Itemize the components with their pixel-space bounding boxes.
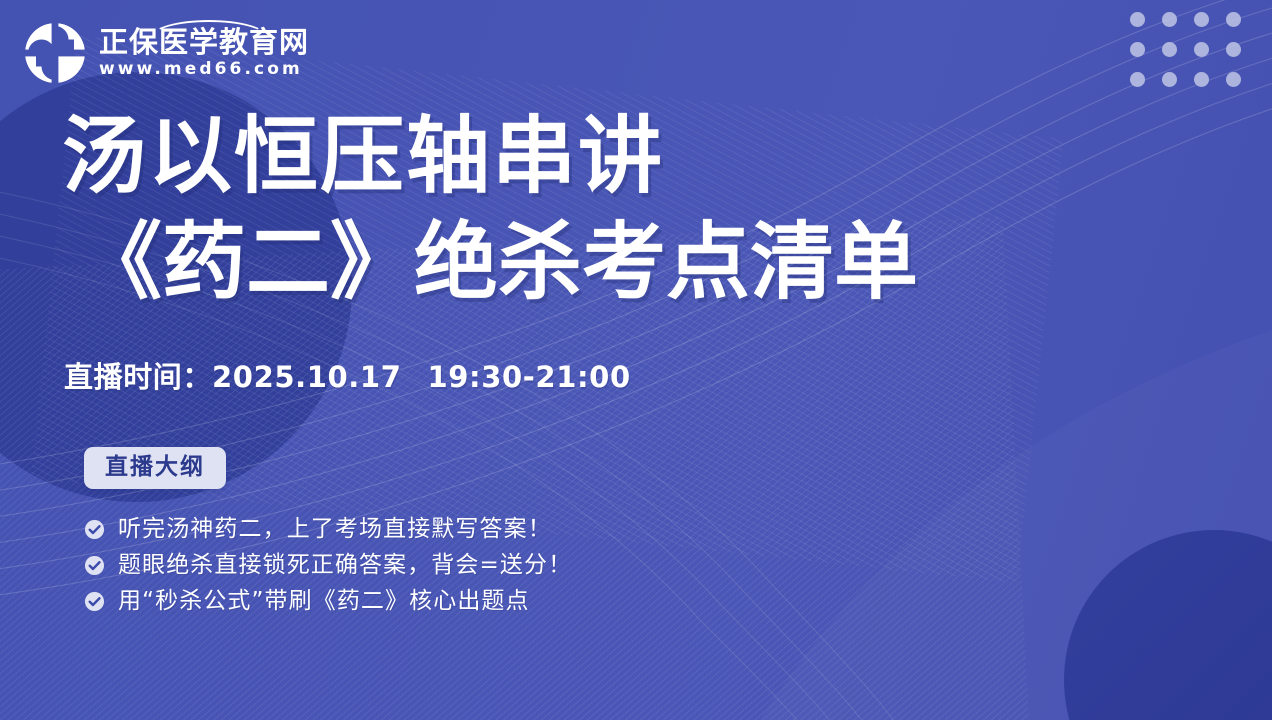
list-item: 听完汤神药二，上了考场直接默写答案！	[84, 518, 572, 541]
list-item-label: 听完汤神药二，上了考场直接默写答案！	[118, 518, 552, 541]
list-item: 用“秒杀公式”带刷《药二》核心出题点	[84, 590, 572, 613]
grid-dot	[1226, 12, 1241, 27]
check-circle-icon	[84, 555, 105, 576]
schedule-date: 2025.10.17	[212, 360, 401, 394]
outline-list: 听完汤神药二，上了考场直接默写答案！ 题眼绝杀直接锁死正确答案，背会=送分！ 用…	[84, 518, 572, 613]
brand-arc-icon	[151, 20, 267, 36]
grid-dot	[1226, 42, 1241, 57]
schedule-time: 19:30-21:00	[427, 360, 630, 394]
check-circle-icon	[84, 591, 105, 612]
promo-poster: 正保医学教育网 www.med66.com 汤以恒压轴串讲 《药二》绝杀考点清单…	[0, 0, 1272, 720]
list-item-label: 用“秒杀公式”带刷《药二》核心出题点	[118, 590, 530, 613]
dot-grid-icon	[1130, 12, 1258, 102]
brand-name: 正保医学教育网	[99, 27, 309, 57]
check-circle-icon	[84, 519, 105, 540]
list-item-label: 题眼绝杀直接锁死正确答案，背会=送分！	[118, 554, 572, 577]
grid-dot	[1194, 72, 1209, 87]
title-line-2: 《药二》绝杀考点清单	[0, 210, 1272, 316]
title-line-1: 汤以恒压轴串讲	[0, 104, 1272, 210]
medical-cross-circle-icon	[22, 20, 88, 86]
decor-dark-circle-corner	[1064, 530, 1272, 720]
grid-dot	[1130, 12, 1145, 27]
schedule-label: 直播时间：	[64, 360, 212, 394]
grid-dot	[1162, 42, 1177, 57]
grid-dot	[1226, 72, 1241, 87]
page-title: 汤以恒压轴串讲 《药二》绝杀考点清单	[0, 104, 1272, 316]
grid-dot	[1130, 42, 1145, 57]
brand-logo: 正保医学教育网 www.med66.com	[22, 20, 309, 86]
status-badge: 直播大纲	[84, 447, 226, 489]
grid-dot	[1162, 12, 1177, 27]
live-schedule: 直播时间：2025.10.1719:30-21:00	[64, 354, 631, 396]
list-item: 题眼绝杀直接锁死正确答案，背会=送分！	[84, 554, 572, 577]
brand-url: www.med66.com	[99, 59, 309, 79]
grid-dot	[1130, 72, 1145, 87]
grid-dot	[1194, 42, 1209, 57]
grid-dot	[1194, 12, 1209, 27]
grid-dot	[1162, 72, 1177, 87]
